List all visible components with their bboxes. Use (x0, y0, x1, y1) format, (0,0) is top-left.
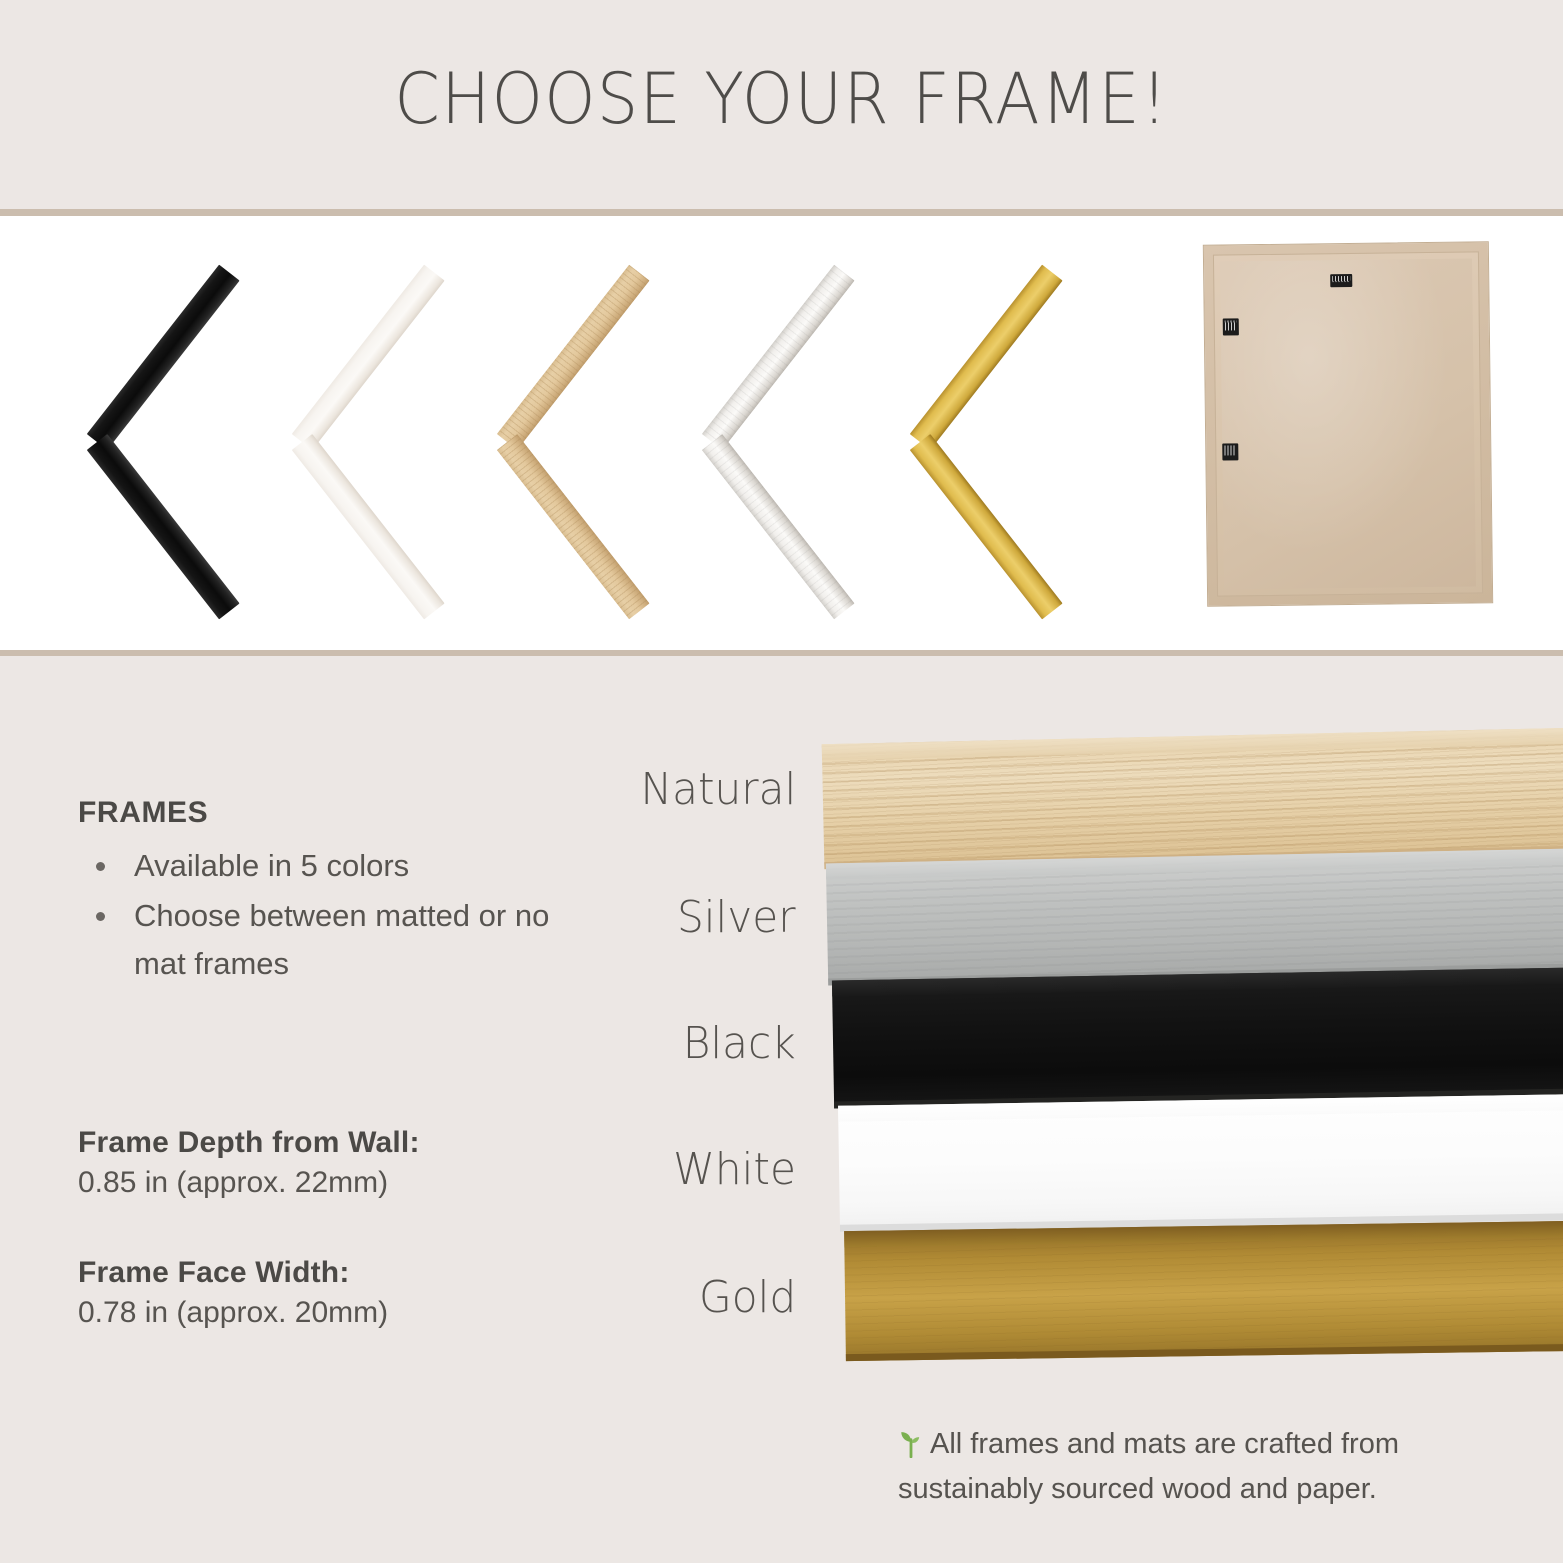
corner-arm-upper (87, 265, 240, 450)
corner-arm-lower (87, 434, 240, 619)
white-frame-corner[interactable] (275, 264, 505, 624)
corner-arm-lower (497, 434, 650, 619)
frame-backing-board (1220, 258, 1476, 589)
moulding-bar-silver[interactable] (826, 849, 1563, 986)
frame-options-infographic: CHOOSE YOUR FRAME! (0, 0, 1563, 1563)
sustainability-note: All frames and mats are crafted from sus… (898, 1422, 1518, 1512)
hanging-hardware-icon (1222, 443, 1238, 460)
header-band: CHOOSE YOUR FRAME! (0, 0, 1563, 209)
sawtooth-hanger-icon (1330, 274, 1352, 287)
moulding-bar-gold[interactable] (844, 1221, 1563, 1361)
corner-arm-lower (702, 434, 855, 619)
hanging-hardware-icon (1223, 318, 1239, 335)
frame-back-panel[interactable] (1203, 241, 1493, 606)
sustainability-note-line2: sustainably sourced wood and paper. (898, 1473, 1377, 1505)
natural-frame-corner[interactable] (480, 264, 710, 624)
sustainability-note-line1: All frames and mats are crafted from (930, 1428, 1399, 1460)
gold-frame-corner[interactable] (893, 264, 1123, 624)
moulding-bar-white[interactable] (838, 1094, 1563, 1232)
corner-arm-upper (292, 265, 445, 450)
page-title: CHOOSE YOUR FRAME! (55, 58, 1509, 140)
corner-arm-lower (292, 434, 445, 619)
silver-frame-corner[interactable] (685, 264, 915, 624)
sprout-icon (898, 1427, 924, 1455)
corner-arm-lower (910, 434, 1063, 619)
black-frame-corner[interactable] (70, 264, 300, 624)
moulding-bar-natural[interactable] (822, 728, 1563, 869)
details-section: FRAMES Available in 5 colors Choose betw… (0, 656, 1563, 1563)
divider-top (0, 209, 1563, 216)
corner-arm-upper (702, 265, 855, 450)
corner-arm-upper (910, 265, 1063, 450)
moulding-bar-black[interactable] (832, 968, 1563, 1109)
corner-arm-upper (497, 265, 650, 450)
